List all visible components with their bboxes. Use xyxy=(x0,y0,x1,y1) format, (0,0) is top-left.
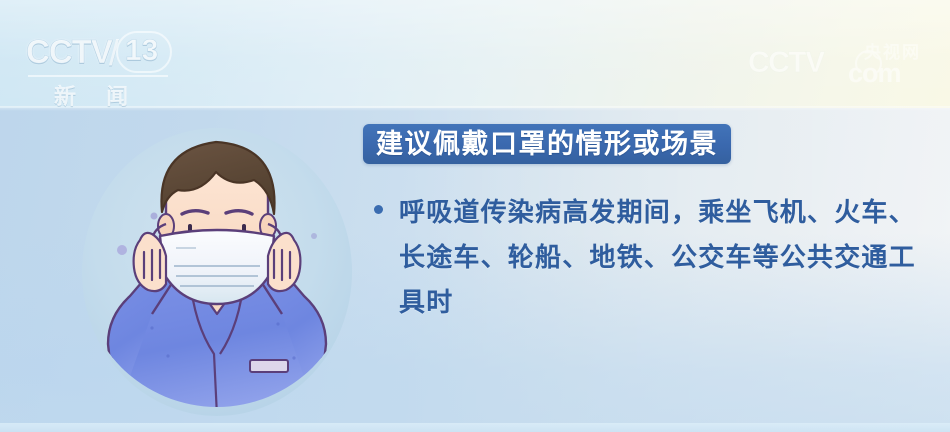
header-band-edge xyxy=(0,106,950,111)
cctv-wordmark: CCTV xyxy=(26,33,112,71)
slide-title-banner: 建议佩戴口罩的情形或场景 xyxy=(363,124,731,164)
channel-name-label: 新 闻 xyxy=(54,79,140,111)
bullet-dot-icon xyxy=(374,205,383,214)
watermark-suffix: com xyxy=(848,58,901,89)
cctvcom-watermark: CCTV 央视网 com xyxy=(748,36,928,90)
bullet-text: 呼吸道传染病高发期间，乘坐飞机、火车、长途车、轮船、地铁、公交车等公共交通工具时 xyxy=(399,190,917,325)
broadcast-slide-frame: CCTV / 13 新 闻 CCTV 央视网 com xyxy=(0,0,950,432)
person-wearing-mask-icon xyxy=(82,128,352,416)
bullet-list-item: 呼吸道传染病高发期间，乘坐飞机、火车、长途车、轮船、地铁、公交车等公共交通工具时 xyxy=(374,190,934,325)
cctv13-channel-logo: CCTV / 13 新 闻 xyxy=(26,33,176,101)
watermark-brand: CCTV xyxy=(748,46,824,80)
mask-illustration xyxy=(82,128,352,416)
slide-title: 建议佩戴口罩的情形或场景 xyxy=(376,131,718,158)
bottom-highlight-strip xyxy=(0,423,950,432)
logo-underline xyxy=(28,75,168,77)
channel-number: 13 xyxy=(125,34,158,68)
